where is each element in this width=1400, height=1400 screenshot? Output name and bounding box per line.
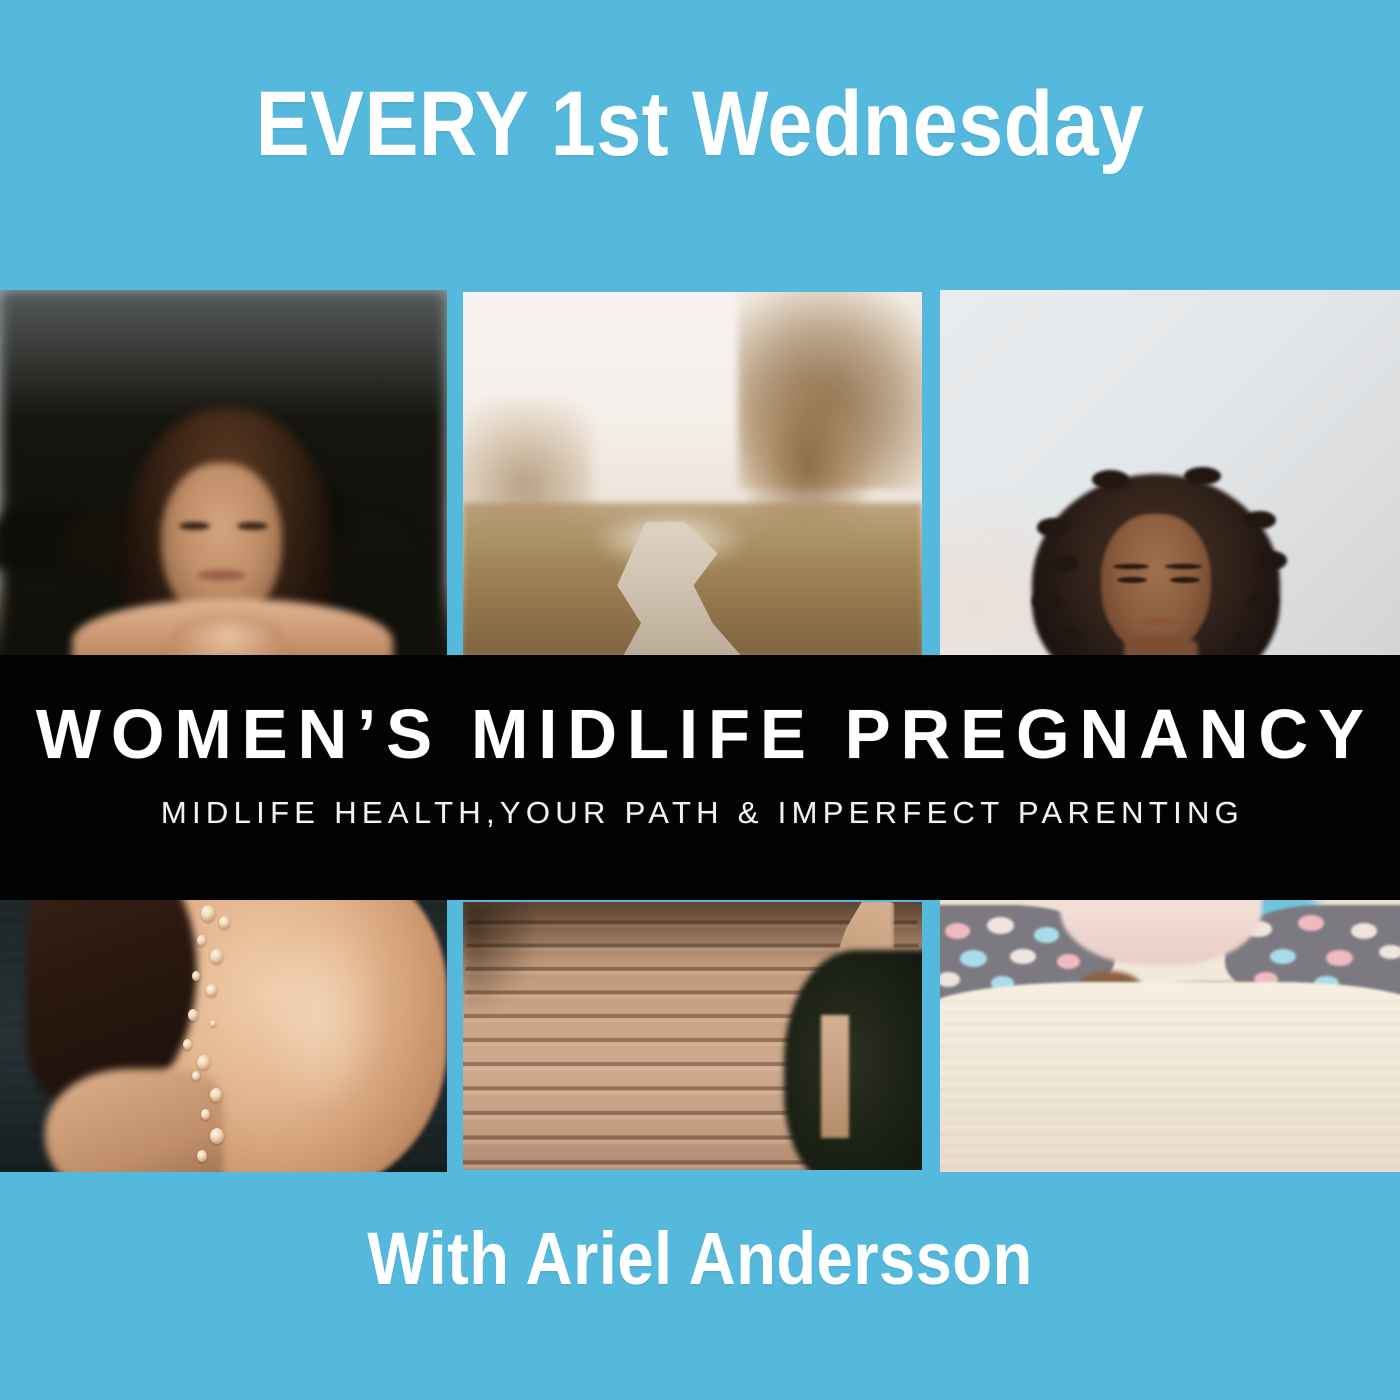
photo-tile-bottom-center: [463, 902, 922, 1170]
photo-tile-top-center: [463, 292, 922, 656]
photo-tile-top-right: [940, 290, 1400, 658]
show-title: WOMEN’S MIDLIFE PREGNANCY: [11, 699, 1390, 769]
photo-tile-top-left: [0, 290, 447, 658]
title-banner: WOMEN’S MIDLIFE PREGNANCY MIDLIFE HEALTH…: [0, 655, 1400, 900]
photo-tile-bottom-right: [940, 900, 1400, 1172]
show-tagline: MIDLIFE HEALTH,YOUR PATH & IMPERFECT PAR…: [0, 797, 1400, 828]
photo-tile-bottom-left: [0, 900, 447, 1172]
podcast-cover-art: EVERY 1st Wednesday: [0, 0, 1400, 1400]
host-credit: With Ariel Andersson: [84, 1222, 1316, 1296]
schedule-heading: EVERY 1st Wednesday: [84, 78, 1316, 170]
